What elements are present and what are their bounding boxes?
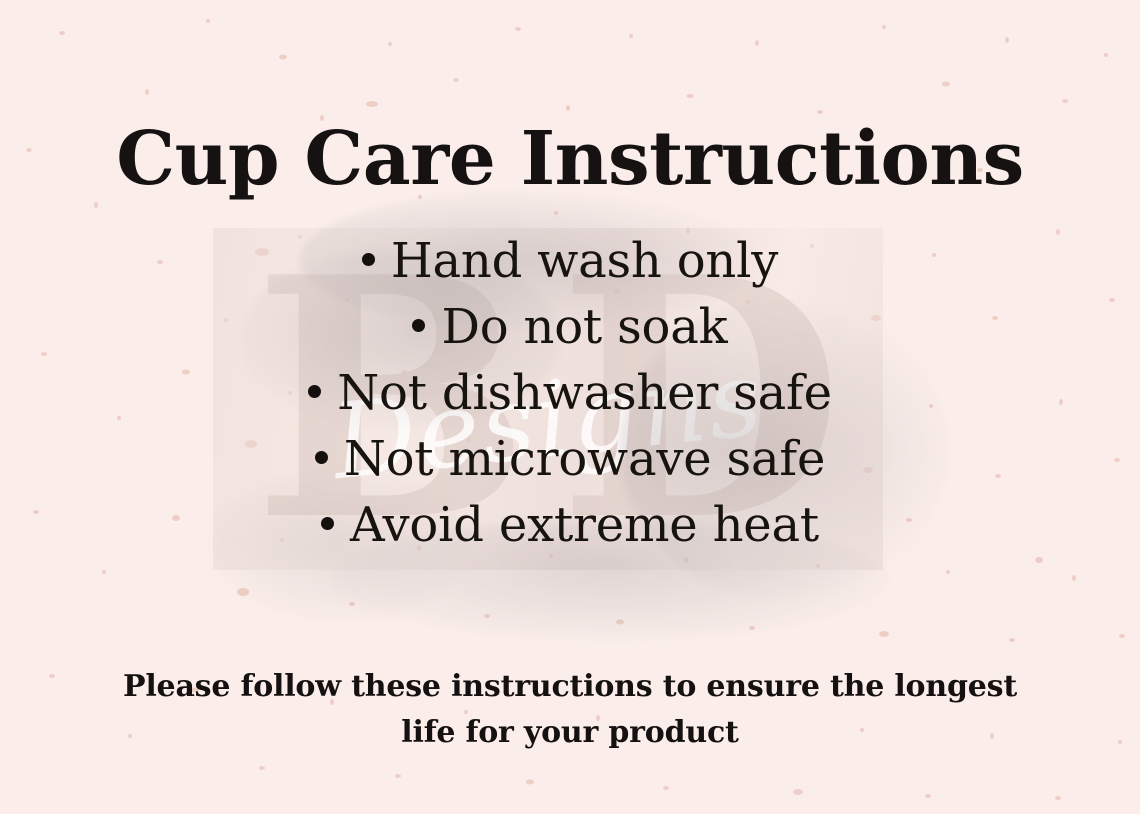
list-item: Hand wash only — [0, 228, 1140, 294]
bullet-icon — [321, 517, 334, 530]
cup-care-instruction-card: BD Designs Cup Care Instructions Hand wa… — [0, 0, 1140, 814]
footer-note: Please follow these instructions to ensu… — [110, 664, 1030, 756]
page-title: Cup Care Instructions — [0, 122, 1140, 196]
bullet-icon — [315, 451, 328, 464]
list-item-label: Not microwave safe — [344, 431, 825, 487]
bullet-icon — [362, 253, 375, 266]
list-item-label: Hand wash only — [391, 233, 778, 289]
card-content: Cup Care Instructions Hand wash only Do … — [0, 0, 1140, 814]
list-item-label: Avoid extreme heat — [350, 497, 819, 553]
bullet-icon — [308, 385, 321, 398]
bullet-icon — [412, 319, 425, 332]
list-item: Not microwave safe — [0, 426, 1140, 492]
list-item-label: Not dishwasher safe — [337, 365, 832, 421]
list-item-label: Do not soak — [441, 299, 727, 355]
list-item: Not dishwasher safe — [0, 360, 1140, 426]
list-item: Avoid extreme heat — [0, 492, 1140, 558]
list-item: Do not soak — [0, 294, 1140, 360]
care-instruction-list: Hand wash only Do not soak Not dishwashe… — [0, 228, 1140, 558]
